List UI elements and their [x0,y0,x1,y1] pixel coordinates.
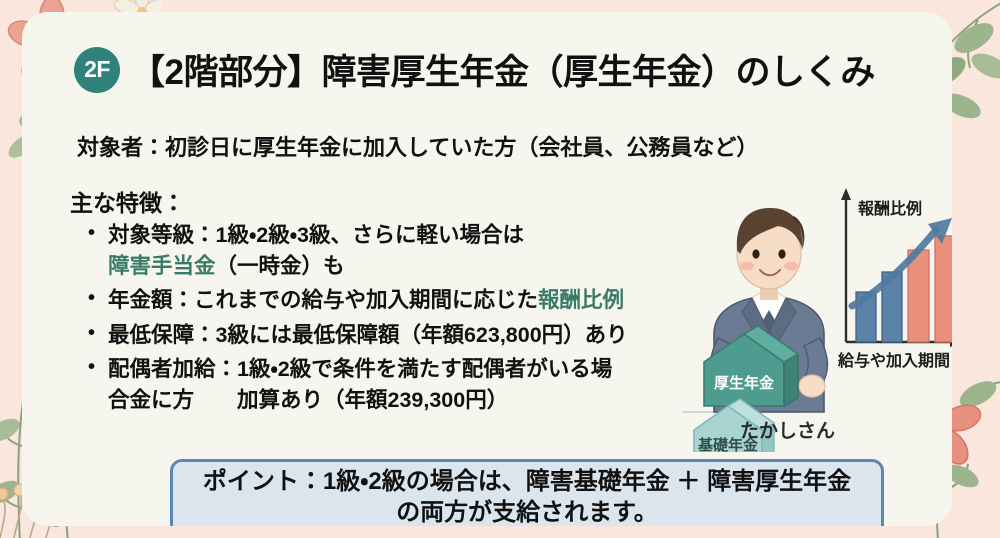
block-upper-label: 厚生年金 [714,374,775,392]
bullet-highlight: 報酬比例 [538,288,624,312]
bullet-text-before: 配偶者加給：1級・2級で条件を満たす配偶者がいる場 合金に方 加算あり（年額23… [108,357,612,412]
target-audience-line: 対象者：初診日に厚生年金に加入していた方（会社員、公務員など） [77,130,758,162]
bar-chart: 報酬比例 給与や加入期間 [837,188,952,370]
list-item: 最低保障：3級には最低保障額（年額623,800円）あり [84,320,704,351]
bullet-text-before: 対象等級：1級・2級・3級、さらに軽い場合は [108,223,524,247]
chart-top-label: 報酬比例 [858,199,922,218]
bullet-highlight: 障害手当金 [108,254,216,278]
point-callout-box: ポイント：1級・2級の場合は、障害基礎年金 ＋ 障害厚生年金 の両方が支給されま… [170,459,884,526]
title-row: 2F 【2階部分】障害厚生年金（厚生年金）のしくみ [74,44,875,95]
slide-root: 2F 【2階部分】障害厚生年金（厚生年金）のしくみ 対象者：初診日に厚生年金に加… [0,0,1000,538]
bar [908,250,929,342]
person-caption: たかしさん [740,416,835,443]
bullet-text-before: 最低保障：3級には最低保障額（年額623,800円）あり [108,323,628,347]
illustration-group: 厚生年金 基礎年金 [682,162,952,452]
point-callout-text: ポイント：1級・2級の場合は、障害基礎年金 ＋ 障害厚生年金 の両方が支給されま… [189,467,865,526]
chart-bottom-label: 給与や加入期間 [837,351,950,370]
bullet-text-before: 年金額：これまでの給与や加入期間に応じた [108,288,538,312]
bar [935,236,952,342]
features-heading: 主な特徴： [70,184,185,218]
feature-list: 対象等級：1級・2級・3級、さらに軽い場合は 障害手当金（一時金）も 年金額：こ… [84,220,704,419]
list-item: 対象等級：1級・2級・3級、さらに軽い場合は 障害手当金（一時金）も [84,220,704,281]
floor-badge: 2F [74,47,120,93]
bullet-text-after: （一時金）も [216,254,345,278]
list-item: 年金額：これまでの給与や加入期間に応じた報酬比例 [84,285,704,316]
list-item: 配偶者加給：1級・2級で条件を満たす配偶者がいる場 合金に方 加算あり（年額23… [84,354,704,415]
page-title: 【2階部分】障害厚生年金（厚生年金）のしくみ [130,44,875,95]
content-card: 2F 【2階部分】障害厚生年金（厚生年金）のしくみ 対象者：初診日に厚生年金に加… [22,12,952,526]
